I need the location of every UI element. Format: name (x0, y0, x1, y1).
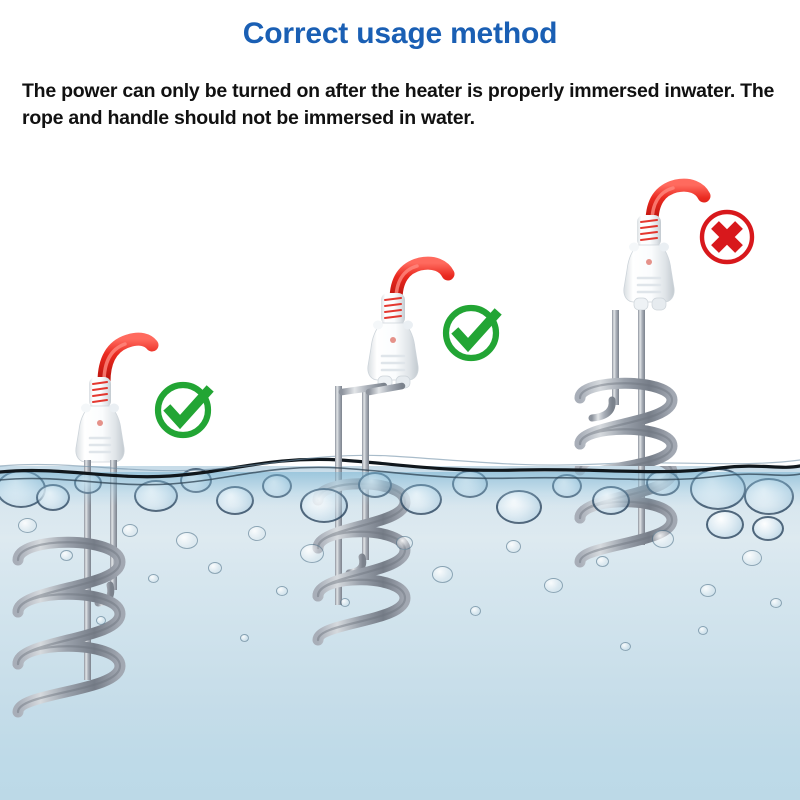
heater-right-handle (624, 245, 674, 302)
heater-right-indicator-light (646, 259, 652, 265)
heater-right-above (0, 0, 800, 466)
submerged-parts-layer (0, 466, 800, 800)
check-circle-icon (152, 377, 218, 443)
cross-circle-icon (696, 206, 758, 268)
heater-right-submerged (0, 466, 800, 800)
check-circle-icon (440, 300, 506, 366)
illustration-page: Correct usage method The power can only … (0, 0, 800, 800)
above-water-parts-layer (0, 0, 800, 466)
heater-left-verdict-badge (152, 377, 218, 448)
heater-middle-verdict-badge (440, 300, 506, 371)
heater-right-verdict-badge (696, 206, 758, 273)
